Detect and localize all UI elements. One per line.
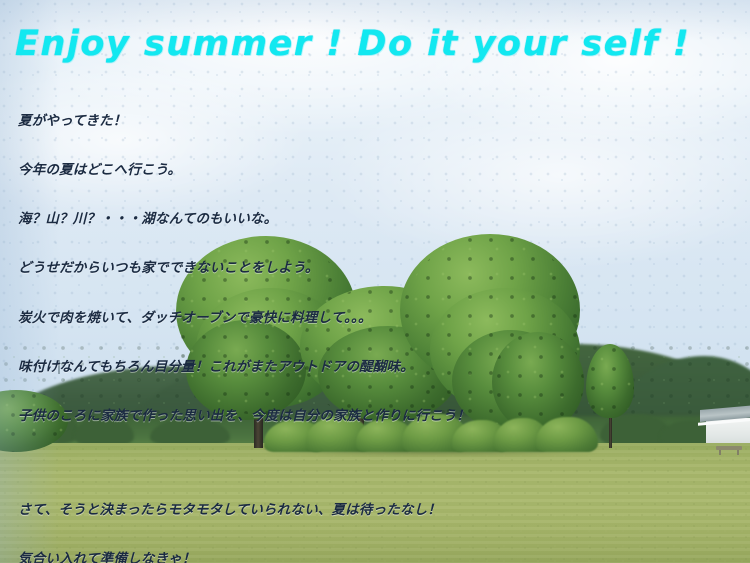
body-line: 海？山？川？・・・湖なんてのもいいな。 — [18, 211, 470, 227]
body-line: 味付けなんてもちろん目分量！これがまたアウトドアの醍醐味。 — [18, 359, 470, 375]
poster-title: Enjoy summer ! Do it your self ! — [15, 24, 690, 64]
park-bench — [716, 446, 742, 450]
body-line: 夏がやってきた！ — [18, 113, 470, 129]
poster-canvas: Enjoy summer ! Do it your self ! 夏がやってきた… — [0, 0, 750, 563]
body-line: どうせだからいつも家でできないことをしよう。 — [18, 260, 470, 276]
body-line: 今年の夏はどこへ行こう。 — [18, 162, 470, 178]
body-line: 気合い入れて準備しなきゃ！ — [18, 551, 470, 563]
poster-body-text: 夏がやってきた！ 今年の夏はどこへ行こう。 海？山？川？・・・湖なんてのもいいな… — [18, 80, 470, 563]
body-line: さて、そうと決まったらモタモタしていられない、夏は待ったなし！ — [18, 502, 470, 518]
body-paragraph-gap — [18, 457, 470, 469]
body-line: 炭火で肉を焼いて、ダッチオーブンで豪快に料理して。。。 — [18, 310, 470, 326]
body-line: 子供のころに家族で作った思い出を、今度は自分の家族と作りに行こう！ — [18, 408, 470, 424]
